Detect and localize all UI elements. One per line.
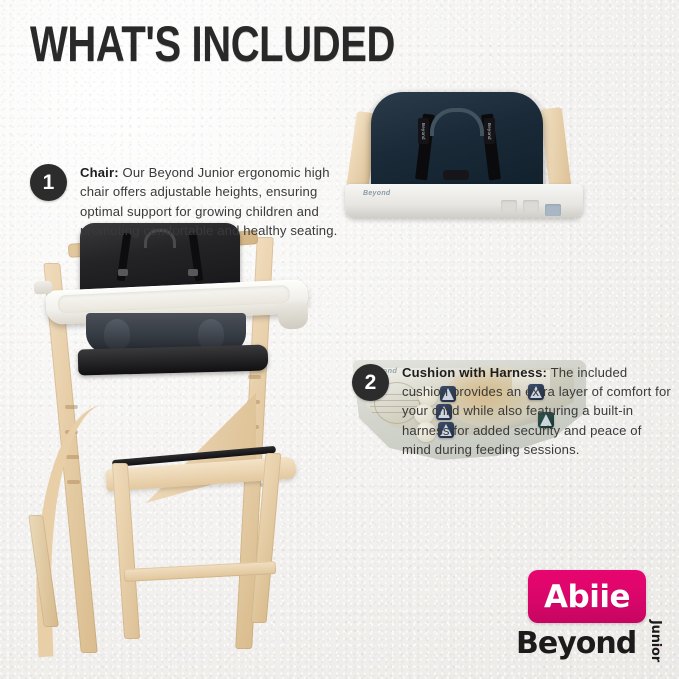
harness-tag-left: Beyond [418,118,429,144]
feature-text-cushion: Cushion with Harness: The included cushi… [402,363,674,460]
leg-guard [104,319,130,349]
logo-product-line-text: Beyond [516,626,636,661]
logo-product-suffix-text: Junior [648,620,663,662]
cushion-tray-brand-text: Beyond [363,190,390,197]
step-badge-1: 1 [30,164,67,201]
cushion-backrest: Beyond Beyond [371,92,543,192]
harness-tag-right: Beyond [484,118,495,144]
tray-button [501,200,517,212]
logo-brand-text: Abiie [528,570,646,623]
brand-logo: Abiie ® Beyond Junior [528,570,668,658]
feature-item-cushion: 2 Cushion with Harness: The included cus… [352,363,674,460]
rail-notch [248,375,261,379]
high-chair-photo [28,215,340,655]
rail-notch [65,405,78,409]
tray-label-badge [545,204,561,216]
harness-buckle [118,269,128,276]
feature-item-chair: 1 Chair: Our Beyond Junior ergonomic hig… [30,163,340,241]
harness-crotch-buckle [443,170,469,180]
page-title: WHAT'S INCLUDED [30,19,573,69]
leg-guard [198,319,224,349]
chair-seat-board [78,345,269,376]
feature-heading-cushion: Cushion with Harness: [402,365,547,380]
infographic-canvas: WHAT'S INCLUDED [0,0,679,679]
cushion-with-harness-photo: Beyond Beyond Beyond [345,88,595,216]
chair-tray-inner-surface [58,285,291,314]
tray-button [523,200,539,212]
chair-tray-lip-left [34,281,53,295]
harness-buckle [188,269,198,276]
step-badge-2: 2 [352,364,389,401]
feature-heading-chair: Chair: [80,165,119,180]
chair-tray-lip-right [277,302,308,330]
feature-body-chair: Our Beyond Junior ergonomic high chair o… [80,165,337,238]
cushion-frame-right [540,107,572,195]
feature-text-chair: Chair: Our Beyond Junior ergonomic high … [80,163,340,241]
